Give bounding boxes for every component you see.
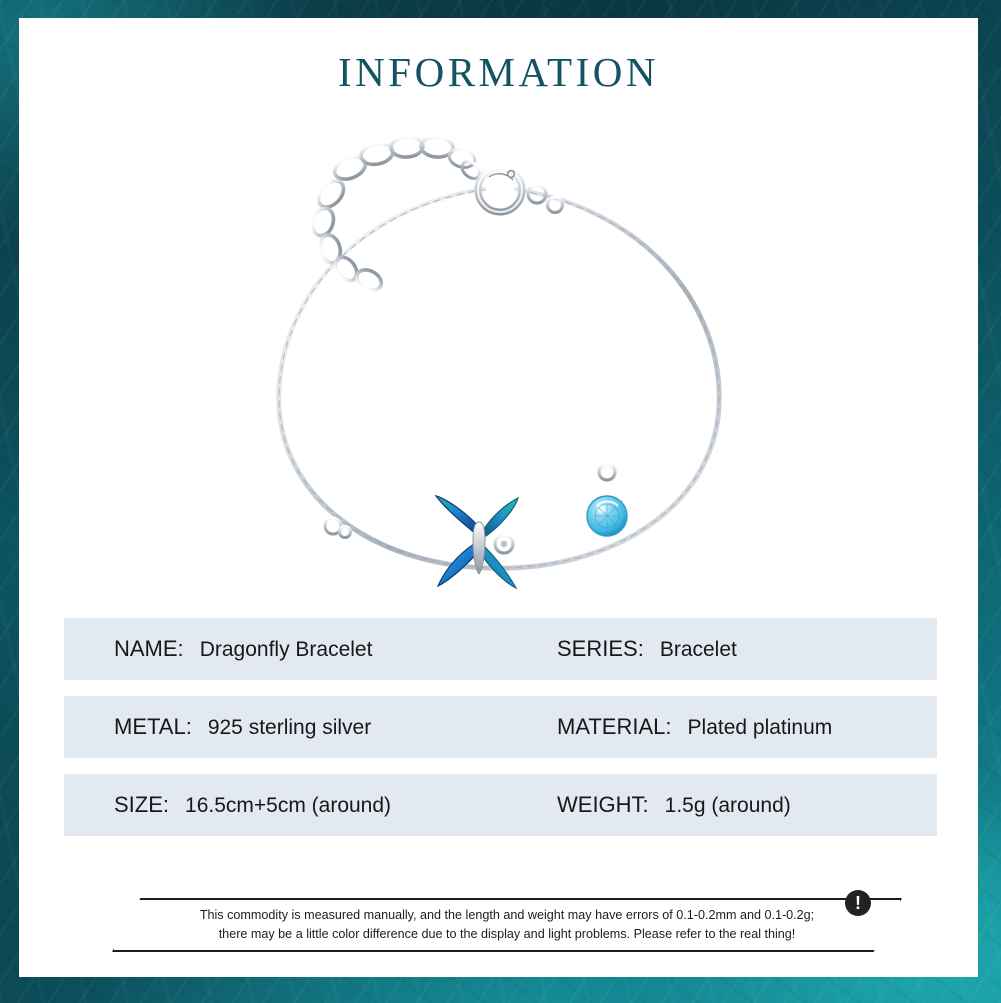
bracelet-illustration [219, 128, 779, 598]
spec-label: MATERIAL: [557, 714, 672, 740]
spec-value: 1.5g (around) [665, 794, 791, 818]
spec-label: SIZE: [114, 792, 169, 818]
disclaimer-text: This commodity is measured manually, and… [112, 898, 902, 952]
exclamation-icon: ! [845, 890, 871, 916]
spec-value: 16.5cm+5cm (around) [185, 794, 391, 818]
spec-value: Dragonfly Bracelet [200, 638, 373, 662]
spec-label: SERIES: [557, 636, 644, 662]
spec-value: Bracelet [660, 638, 737, 662]
disclaimer-line-1: This commodity is measured manually, and… [200, 908, 814, 922]
spec-cell-series: SERIES: Bracelet [532, 636, 937, 662]
spec-label: METAL: [114, 714, 192, 740]
chain-end-tag [447, 146, 483, 182]
disclaimer-banner: This commodity is measured manually, and… [112, 890, 902, 952]
spec-value: Plated platinum [688, 716, 833, 740]
spec-cell-metal: METAL: 925 sterling silver [64, 714, 532, 740]
chain-highlight [282, 190, 716, 565]
spec-label: WEIGHT: [557, 792, 649, 818]
table-row: SIZE: 16.5cm+5cm (around) WEIGHT: 1.5g (… [64, 774, 937, 836]
clasp-connector-rings [528, 185, 563, 213]
dragonfly-charm [436, 496, 518, 588]
product-image [19, 128, 978, 608]
information-card: INFORMATION [19, 18, 978, 977]
page-title: INFORMATION [19, 48, 978, 96]
spec-cell-material: MATERIAL: Plated platinum [532, 714, 937, 740]
disclaimer-line-2: there may be a little color difference d… [219, 927, 796, 941]
spec-value: 925 sterling silver [208, 716, 371, 740]
specs-table: NAME: Dragonfly Bracelet SERIES: Bracele… [64, 618, 937, 852]
spec-label: NAME: [114, 636, 184, 662]
exclamation-glyph: ! [855, 894, 861, 912]
spec-cell-name: NAME: Dragonfly Bracelet [64, 636, 532, 662]
gemstone-charm [587, 464, 627, 536]
page-frame: INFORMATION [0, 0, 1001, 1003]
table-row: NAME: Dragonfly Bracelet SERIES: Bracele… [64, 618, 937, 680]
table-row: METAL: 925 sterling silver MATERIAL: Pla… [64, 696, 937, 758]
spec-cell-size: SIZE: 16.5cm+5cm (around) [64, 792, 532, 818]
spec-cell-weight: WEIGHT: 1.5g (around) [532, 792, 937, 818]
